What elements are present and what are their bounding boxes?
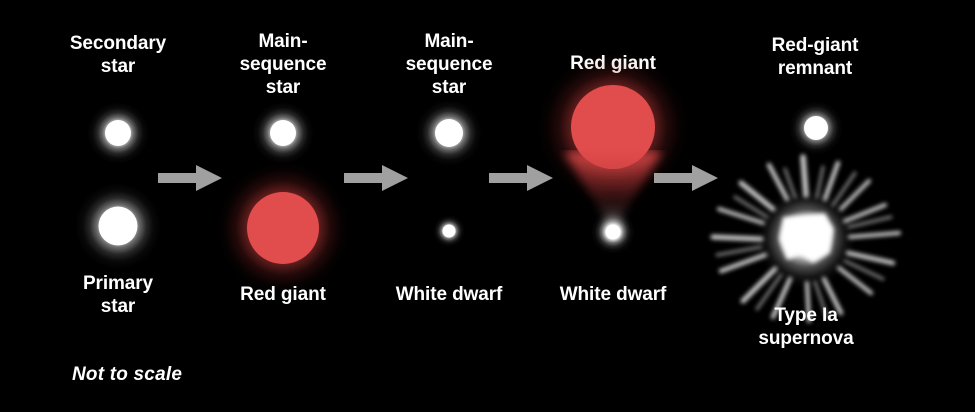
not-to-scale-note: Not to scale [72, 364, 182, 386]
stage-1-bottom-label: Primary star [38, 272, 198, 318]
stage-3-bottom-label: White dwarf [369, 283, 529, 306]
red-giant [247, 192, 319, 264]
arrow-2-to-3 [344, 163, 408, 193]
stage-1-top-label: Secondary star [38, 32, 198, 78]
stage-5-bottom-label: Type Ia supernova [726, 304, 886, 350]
stage-2-bottom-label: Red giant [203, 283, 363, 306]
stage-4-bottom-label: White dwarf [533, 283, 693, 306]
stage-2-top-label: Main- sequence star [203, 30, 363, 99]
stage-3-top-label: Main- sequence star [369, 30, 529, 99]
white-dwarf [443, 225, 456, 238]
arrow-3-to-4 [489, 163, 553, 193]
primary-star [99, 207, 138, 246]
stage-5-top-label: Red-giant remnant [735, 34, 895, 80]
main-sequence-star [270, 120, 296, 146]
white-dwarf [606, 225, 621, 240]
main-sequence-star [435, 119, 463, 147]
secondary-star [105, 120, 131, 146]
supernova-diagram: Secondary star Primary star Main- sequen… [0, 0, 975, 412]
arrow-1-to-2 [158, 163, 222, 193]
